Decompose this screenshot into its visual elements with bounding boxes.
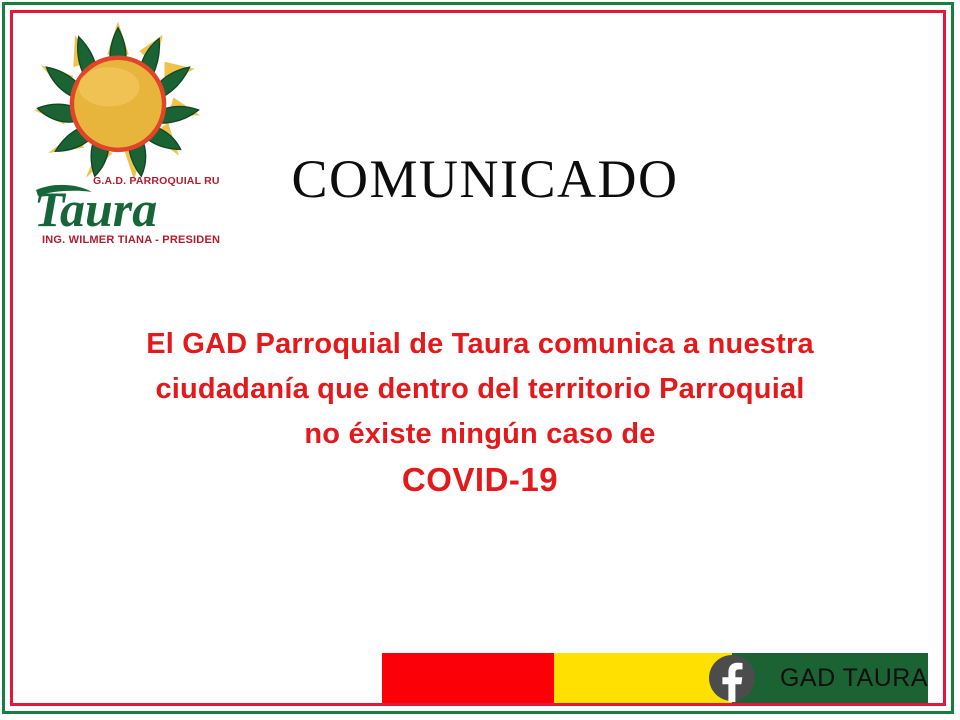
comunicado-poster: G.A.D. PARROQUIAL RURAL Taura ING. WILME… (0, 0, 960, 720)
svg-text:ING. WILMER TIANA - PRESIDENTE: ING. WILMER TIANA - PRESIDENTE (42, 234, 220, 246)
announcement-body: El GAD Parroquial de Taura comunica a nu… (80, 322, 880, 502)
message-line-2: ciudadanía que dentro del territorio Par… (80, 367, 880, 412)
facebook-icon[interactable] (708, 654, 756, 702)
footer-color-bar: GAD TAURA (382, 653, 928, 703)
page-title: COMUNICADO (250, 152, 720, 206)
footer-segment-yellow (554, 653, 732, 703)
message-line-3: no éxiste ningún caso de (80, 412, 880, 457)
footer-segment-red (382, 653, 554, 703)
footer-segment-green: GAD TAURA (732, 653, 928, 703)
sun-emblem-icon (28, 17, 208, 187)
logo-wordmark: G.A.D. PARROQUIAL RURAL Taura ING. WILME… (20, 170, 220, 252)
gad-taura-logo: G.A.D. PARROQUIAL RURAL Taura ING. WILME… (20, 12, 220, 252)
footer-brand-label: GAD TAURA (780, 664, 928, 693)
message-line-covid: COVID-19 (80, 457, 880, 502)
message-line-1: El GAD Parroquial de Taura comunica a nu… (80, 322, 880, 367)
